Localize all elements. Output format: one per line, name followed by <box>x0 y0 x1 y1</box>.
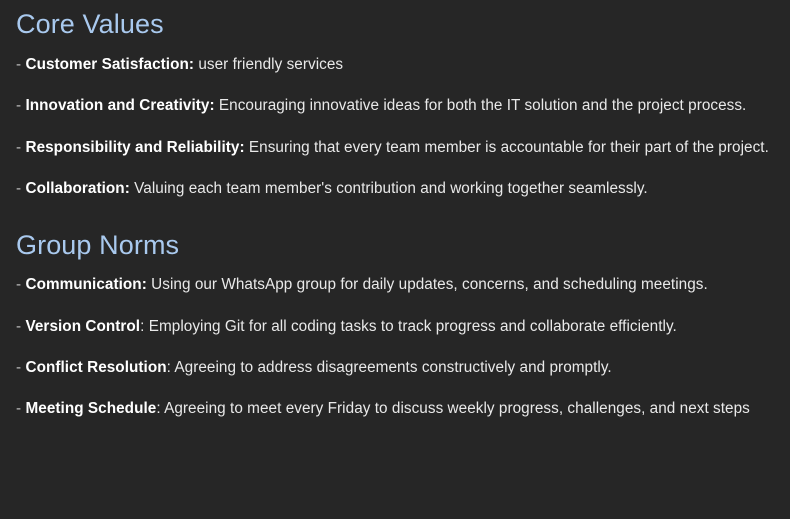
section-spacer <box>16 200 774 212</box>
list-item-term: Responsibility and Reliability <box>25 139 239 156</box>
list-item-description: Agreeing to address disagreements constr… <box>171 359 612 376</box>
section-heading-core-values: Core Values <box>16 0 774 39</box>
list-item: - Customer Satisfaction: user friendly s… <box>16 53 774 76</box>
list-item: - Responsibility and Reliability: Ensuri… <box>16 136 774 159</box>
list-item: - Version Control: Employing Git for all… <box>16 315 774 338</box>
list-item-term: Meeting Schedule <box>25 400 156 417</box>
list-item-description: Agreeing to meet every Friday to discuss… <box>161 400 750 417</box>
list-item: - Collaboration: Valuing each team membe… <box>16 177 774 200</box>
list-item-term: Customer Satisfaction <box>25 56 188 73</box>
document-page: Core Values - Customer Satisfaction: use… <box>0 0 790 519</box>
list-item-description: Valuing each team member's contribution … <box>130 180 648 197</box>
list-item-description: Employing Git for all coding tasks to tr… <box>144 318 676 335</box>
list-item-term: Collaboration <box>25 180 124 197</box>
list-item-term: Conflict Resolution <box>25 359 166 376</box>
list-item: - Conflict Resolution: Agreeing to addre… <box>16 356 774 379</box>
list-item-term: Communication <box>25 276 141 293</box>
list-item: - Innovation and Creativity: Encouraging… <box>16 94 774 117</box>
list-item-description: Ensuring that every team member is accou… <box>245 139 769 156</box>
list-item-description: Using our WhatsApp group for daily updat… <box>147 276 708 293</box>
section-heading-group-norms: Group Norms <box>16 212 774 260</box>
list-item-description: user friendly services <box>194 56 343 73</box>
list-item-term: Version Control <box>25 318 140 335</box>
list-item: - Meeting Schedule: Agreeing to meet eve… <box>16 397 774 420</box>
list-item: - Communication: Using our WhatsApp grou… <box>16 273 774 296</box>
list-item-term: Innovation and Creativity <box>25 97 209 114</box>
list-item-description: Encouraging innovative ideas for both th… <box>215 97 747 114</box>
